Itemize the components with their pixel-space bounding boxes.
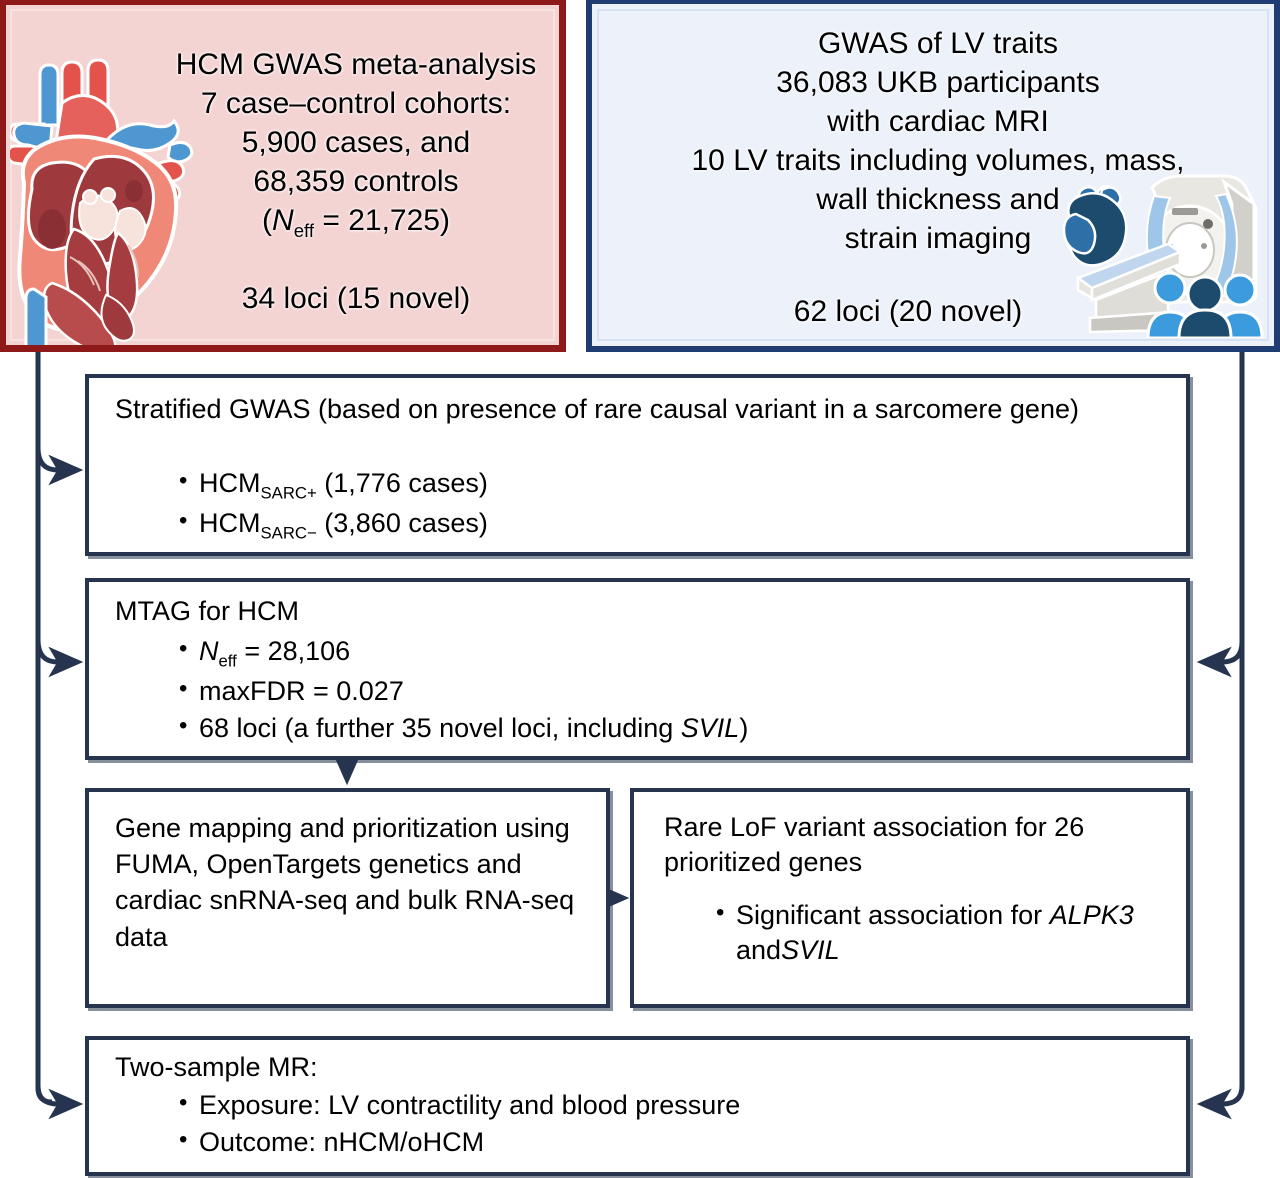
- mtag-loci-text: 68 loci (a further 35 novel loci, includ…: [199, 713, 681, 743]
- stratified-gwas-title: Stratified GWAS (based on presence of ra…: [115, 392, 1165, 427]
- two-sample-mr-box: Two-sample MR: Exposure: LV contractilit…: [85, 1036, 1190, 1176]
- hcm-sarc-plus-subscript: SARC+: [261, 483, 317, 502]
- list-item: Significant association for ALPK3 andSVI…: [714, 898, 1184, 968]
- lv-source-main-text: GWAS of LV traits 36,083 UKB participant…: [608, 24, 1268, 258]
- mtag-loci-close: ): [739, 713, 748, 743]
- hcm-sarc-minus-count: (3,860 cases): [317, 508, 488, 538]
- hcm-sarc-plus-count: (1,776 cases): [317, 468, 488, 498]
- lv-traits-source-box: GWAS of LV traits 36,083 UKB participant…: [586, 0, 1280, 352]
- mtag-gene-svil: SVIL: [681, 713, 740, 743]
- rare-lof-title: Rare LoF variant association for 26 prio…: [664, 810, 1174, 880]
- hcm-gwas-source-box: HCM GWAS meta-analysis 7 case–control co…: [0, 0, 566, 352]
- list-item: HCMSARC− (3,860 cases): [177, 506, 877, 544]
- lof-significant-text: Significant association for: [736, 900, 1050, 930]
- rare-lof-bullets: Significant association for ALPK3 andSVI…: [714, 898, 1184, 970]
- arrow-left-to-mr: [38, 1086, 78, 1104]
- list-item: HCMSARC+ (1,776 cases): [177, 466, 877, 504]
- lof-gene-svil: SVIL: [781, 935, 840, 965]
- mtag-neff-value: = 28,106: [237, 636, 350, 666]
- list-item: maxFDR = 0.027: [177, 674, 1127, 709]
- list-item: 68 loci (a further 35 novel loci, includ…: [177, 711, 1127, 746]
- lof-conjunction: and: [736, 935, 781, 965]
- two-sample-mr-bullets: Exposure: LV contractility and blood pre…: [177, 1088, 1077, 1162]
- arrow-left-to-mtag: [38, 640, 78, 662]
- list-item: Neff = 28,106: [177, 634, 1127, 672]
- list-item: Exposure: LV contractility and blood pre…: [177, 1088, 1077, 1123]
- stratified-gwas-box: Stratified GWAS (based on presence of ra…: [85, 374, 1190, 556]
- hcm-sarc-plus-label: HCM: [199, 468, 261, 498]
- neff-subscript: eff: [294, 220, 314, 241]
- hcm-sarc-minus-subscript: SARC−: [261, 524, 317, 543]
- two-sample-mr-title: Two-sample MR:: [115, 1050, 715, 1085]
- neff-n-symbol: N: [272, 204, 294, 237]
- hcm-source-main-text: HCM GWAS meta-analysis 7 case–control co…: [156, 45, 556, 243]
- mtag-maxfdr: maxFDR = 0.027: [199, 676, 404, 706]
- mtag-neff-subscript: eff: [219, 651, 237, 670]
- gene-mapping-title: Gene mapping and prioritization using FU…: [115, 810, 595, 955]
- mtag-box: MTAG for HCM Neff = 28,106 maxFDR = 0.02…: [85, 578, 1190, 760]
- mtag-title: MTAG for HCM: [115, 594, 815, 629]
- gene-mapping-box: Gene mapping and prioritization using FU…: [85, 788, 610, 1008]
- arrow-right-to-mtag: [1202, 642, 1242, 662]
- hcm-neff-line: (Neff = 21,725): [262, 204, 450, 237]
- list-item: Outcome: nHCM/oHCM: [177, 1125, 1077, 1160]
- arrow-right-to-mr: [1202, 1086, 1242, 1104]
- arrow-left-to-stratified: [38, 448, 78, 470]
- lof-gene-alpk3: ALPK3: [1050, 900, 1134, 930]
- rare-lof-box: Rare LoF variant association for 26 prio…: [630, 788, 1190, 1008]
- mtag-bullets: Neff = 28,106 maxFDR = 0.027 68 loci (a …: [177, 634, 1127, 748]
- hcm-loci-text: 34 loci (15 novel): [156, 279, 556, 318]
- left-trunk-line: [38, 352, 52, 1102]
- hcm-sarc-minus-label: HCM: [199, 508, 261, 538]
- hcm-source-lines: HCM GWAS meta-analysis 7 case–control co…: [176, 48, 537, 198]
- lv-loci-text: 62 loci (20 novel): [608, 292, 1208, 331]
- flowchart-root: HCM GWAS meta-analysis 7 case–control co…: [0, 0, 1280, 1178]
- stratified-gwas-bullets: HCMSARC+ (1,776 cases) HCMSARC− (3,860 c…: [177, 466, 877, 546]
- mtag-neff-symbol: N: [199, 636, 219, 666]
